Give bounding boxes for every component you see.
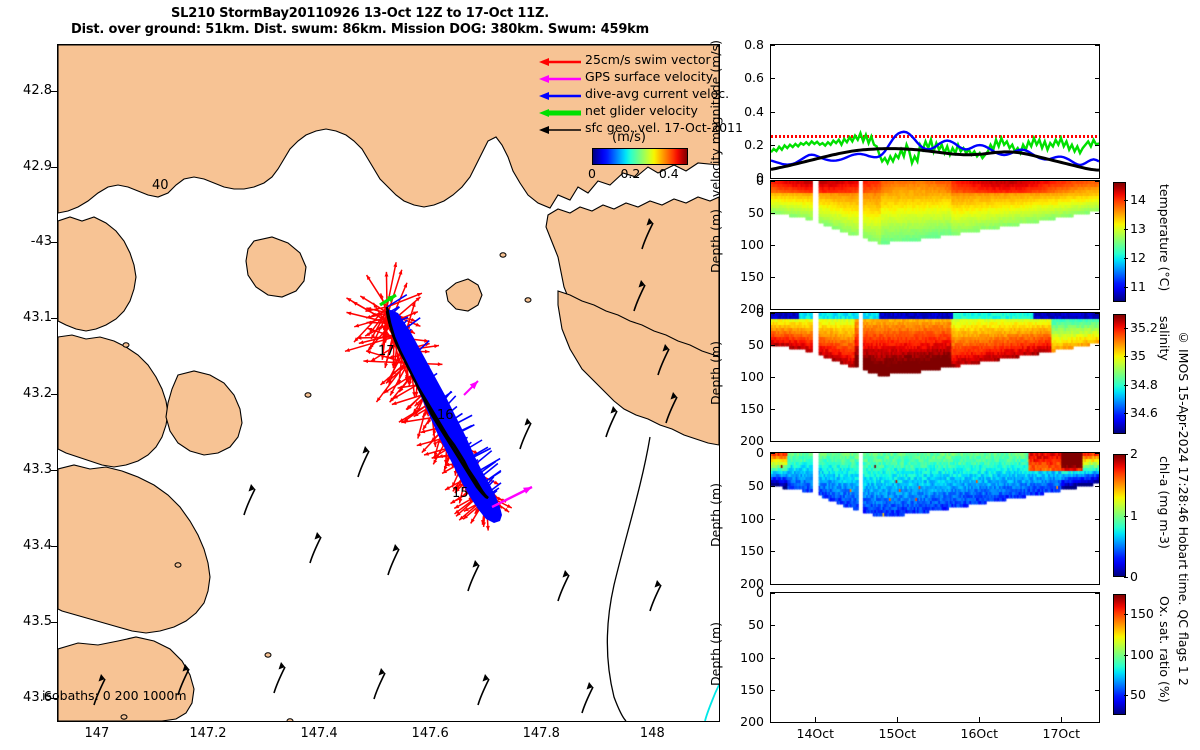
salinity-section-ytick	[1095, 409, 1099, 410]
velocity-magnitude-ytick-label-3: 0.6	[730, 70, 764, 85]
chlorophyll-section-ytick	[1095, 453, 1099, 454]
islet-7	[305, 393, 311, 397]
oxygen-section-canvas	[771, 593, 1099, 722]
chlorophyll-section-cbar-tick-0: 0	[1130, 569, 1138, 584]
temperature-section-ytick	[771, 309, 775, 310]
map-lat-tick-6: 43.4	[0, 538, 52, 553]
figure-root: SL210 StormBay20110926 13-Oct 12Z to 17-…	[0, 0, 1200, 750]
oxygen-section-cbar-tickmark	[1124, 614, 1128, 615]
map-graphic	[58, 45, 719, 721]
salinity-section-ytick	[1095, 377, 1099, 378]
map-lon-tick-0: 147	[67, 726, 127, 741]
map-colorbar-tick-2: 0.4	[654, 166, 684, 181]
temperature-section-cbar-tick-0: 11	[1130, 279, 1146, 294]
time-tickmark-3	[1061, 717, 1062, 722]
time-tickmark-2	[979, 717, 980, 722]
temperature-section-ytick	[1095, 309, 1099, 310]
legend-label-net-glider-velocity: net glider velocity	[585, 103, 698, 118]
temperature-section-cbar-tickmark	[1124, 258, 1128, 259]
salinity-section-ytick	[771, 441, 775, 442]
salinity-section-ytick	[1095, 345, 1099, 346]
chlorophyll-section-ytick-label-0: 0	[730, 445, 764, 460]
velocity-magnitude-ylabel: velocity magnitude (m/s)	[708, 40, 723, 197]
map-velocity-colorbar	[592, 148, 688, 165]
map-colorbar-tick-1: 0.2	[615, 166, 645, 181]
map-lat-tick-4: 43.2	[0, 386, 52, 401]
title-line-2: Dist. over ground: 51km. Dist. swum: 86k…	[0, 22, 720, 38]
waypoint-label-17: 17	[378, 344, 395, 359]
chlorophyll-section-ytick-label-3: 150	[730, 543, 764, 558]
legend-row-gps-surface-velocity: GPS surface velocity	[537, 69, 717, 86]
gps-surface-velocity-arrow-icon	[537, 73, 583, 85]
velocity-magnitude-ytick	[771, 112, 775, 113]
velocity-magnitude-ytick	[771, 145, 775, 146]
oxygen-section-ytick	[1095, 690, 1099, 691]
velocity-magnitude[interactable]	[770, 44, 1100, 179]
chlorophyll-section[interactable]	[770, 452, 1100, 585]
salinity-section-ylabel: Depth (m)	[708, 341, 723, 405]
velocity-magnitude-ytick	[771, 78, 775, 79]
salinity-section-ytick	[771, 409, 775, 410]
map-lat-tick-0: 42.8	[0, 83, 52, 98]
chlorophyll-section-cbar-tickmark	[1124, 577, 1128, 578]
salinity-section-ytick-label-0: 0	[730, 305, 764, 320]
oxygen-section-cbar-tick-2: 150	[1130, 606, 1154, 621]
chlorophyll-section-ylabel: Depth (m)	[708, 483, 723, 547]
salinity-section-cbar-tickmark	[1124, 413, 1128, 414]
salinity-section-cbar-tickmark	[1124, 356, 1128, 357]
temperature-section-ytick	[1095, 181, 1099, 182]
islet-4	[525, 298, 531, 302]
legend-row-dive-avg-current: dive-avg current veloc.	[537, 86, 717, 103]
salinity-section-ytick	[1095, 441, 1099, 442]
map-lat-tick-3: 43.1	[0, 310, 52, 325]
map-lon-tick-3: 147.6	[400, 726, 460, 741]
chlorophyll-section-cbar-tick-1: 1	[1130, 508, 1138, 523]
oxygen-section-ytick	[771, 658, 775, 659]
legend-label-swim-vector: 25cm/s swim vector	[585, 52, 711, 67]
oxygen-section-ytick-label-3: 150	[730, 682, 764, 697]
time-tickmark-0	[815, 717, 816, 722]
temperature-section-ytick	[1095, 213, 1099, 214]
temperature-section-ytick-label-2: 100	[730, 237, 764, 252]
time-tick-15Oct: 15Oct	[867, 726, 927, 741]
time-tick-17Oct: 17Oct	[1031, 726, 1091, 741]
salinity-section-ytick-label-3: 150	[730, 401, 764, 416]
time-tick-14Oct: 14Oct	[785, 726, 845, 741]
velocity-magnitude-ytick-right	[1095, 112, 1099, 113]
velocity-magnitude-ytick-label-2: 0.4	[730, 104, 764, 119]
temperature-section-cbar-tick-1: 12	[1130, 250, 1146, 265]
oxygen-section-cbar-tickmark	[1124, 695, 1128, 696]
copyright-text: © IMOS 15-Apr-2024 17:28:46 Hobart time.…	[1176, 330, 1191, 686]
title-line-1: SL210 StormBay20110926 13-Oct 12Z to 17-…	[0, 6, 720, 22]
temperature-section-ytick-label-0: 0	[730, 173, 764, 188]
oxygen-section-ytick	[771, 593, 775, 594]
temperature-section-ytick	[771, 245, 775, 246]
oxygen-section-ytick	[1095, 593, 1099, 594]
dive-avg-current-arrow-icon	[537, 90, 583, 102]
map-legend: 25cm/s swim vectorGPS surface velocitydi…	[537, 52, 717, 137]
temperature-section-cbar-tick-2: 13	[1130, 221, 1146, 236]
oxygen-section-ytick	[1095, 625, 1099, 626]
map-lon-tick-2: 147.4	[289, 726, 349, 741]
velocity-magnitude-ytick-right	[1095, 145, 1099, 146]
map-colorbar-tick-0: 0	[577, 166, 607, 181]
waypoint-label-15: 15	[452, 486, 469, 501]
salinity-section-colorbar	[1113, 314, 1126, 434]
chlorophyll-section-canvas	[771, 453, 1099, 584]
swim-vector-arrow-icon	[537, 56, 583, 68]
oxygen-section-ytick-label-4: 200	[730, 714, 764, 729]
salinity-section-canvas	[771, 313, 1099, 441]
islet-6	[123, 343, 129, 347]
chlorophyll-section-cbar-title: chl-a (mg m-3)	[1157, 456, 1172, 549]
temperature-section-ytick	[771, 213, 775, 214]
waypoint-label-16: 16	[437, 408, 454, 423]
salinity-section-ytick-label-1: 50	[730, 337, 764, 352]
salinity-section-cbar-tick-1: 34.8	[1130, 377, 1158, 392]
velocity-magnitude-ytick-label-1: 0.2	[730, 137, 764, 152]
velocity-magnitude-plot	[771, 45, 1099, 178]
salinity-section-ytick-label-2: 100	[730, 369, 764, 384]
map-lat-tick-7: 43.5	[0, 614, 52, 629]
islet-3	[287, 719, 293, 721]
temperature-section-ytick	[771, 277, 775, 278]
velocity-magnitude-ytick	[771, 45, 775, 46]
chlorophyll-section-ytick	[771, 584, 775, 585]
temperature-section-cbar-tick-3: 14	[1130, 192, 1146, 207]
chlorophyll-section-ytick	[1095, 551, 1099, 552]
velocity-magnitude-ytick-right	[1095, 78, 1099, 79]
chlorophyll-section-cbar-tickmark	[1124, 454, 1128, 455]
legend-row-swim-vector: 25cm/s swim vector	[537, 52, 717, 69]
temperature-section-cbar-tickmark	[1124, 200, 1128, 201]
oxygen-section-cbar-tickmark	[1124, 655, 1128, 656]
salinity-section-ytick	[771, 313, 775, 314]
chlorophyll-section-ytick	[771, 486, 775, 487]
islet-1	[121, 715, 127, 719]
chlorophyll-section-ytick	[1095, 584, 1099, 585]
chlorophyll-section-ytick	[1095, 486, 1099, 487]
oxygen-section-ytick-label-0: 0	[730, 585, 764, 600]
oxygen-section-cbar-title: Ox. sat. ratio (%)	[1157, 596, 1172, 703]
sfc-geo-velocity-arrow-icon	[537, 124, 583, 136]
map-depth-annotation: 40	[152, 178, 169, 193]
oxygen-section-ytick	[771, 625, 775, 626]
temperature-section-ytick	[771, 181, 775, 182]
salinity-section[interactable]	[770, 312, 1100, 442]
temperature-section-ytick	[1095, 277, 1099, 278]
chlorophyll-section-ytick-label-1: 50	[730, 478, 764, 493]
islet-8	[175, 563, 181, 567]
temperature-section-ytick-label-1: 50	[730, 205, 764, 220]
net-glider-velocity-arrow-icon	[537, 107, 583, 119]
oxygen-section-ytick-label-2: 100	[730, 650, 764, 665]
velocity-magnitude-ytick-label-4: 0.8	[730, 37, 764, 52]
temperature-section-ytick	[1095, 245, 1099, 246]
time-tickmark-1	[897, 717, 898, 722]
velocity-magnitude-ytick-right	[1095, 45, 1099, 46]
islet-9	[265, 653, 271, 657]
velocity-magnitude-ytick	[771, 178, 775, 179]
chlorophyll-section-ytick	[771, 551, 775, 552]
glider-track-map[interactable]	[57, 44, 720, 722]
temperature-section-cbar-tickmark	[1124, 287, 1128, 288]
chlorophyll-section-ytick	[1095, 519, 1099, 520]
salinity-section-ytick	[1095, 313, 1099, 314]
map-lon-tick-1: 147.2	[178, 726, 238, 741]
chlorophyll-section-ytick	[771, 453, 775, 454]
map-lat-tick-1: 42.9	[0, 159, 52, 174]
islet-5	[500, 253, 506, 257]
legend-row-net-glider-velocity: net glider velocity	[537, 103, 717, 120]
map-colorbar-units: (m/s)	[612, 130, 646, 145]
salinity-section-ytick	[771, 377, 775, 378]
temperature-section-ylabel: Depth (m)	[708, 209, 723, 273]
velocity-magnitude-ytick-right	[1095, 178, 1099, 179]
map-lon-tick-4: 147.8	[511, 726, 571, 741]
oxygen-section-cbar-tick-1: 100	[1130, 647, 1154, 662]
oxygen-section[interactable]	[770, 592, 1100, 723]
oxygen-section-ytick	[771, 722, 775, 723]
temperature-section-canvas	[771, 181, 1099, 309]
map-lon-tick-5: 148	[622, 726, 682, 741]
legend-label-gps-surface-velocity: GPS surface velocity	[585, 69, 713, 84]
oxygen-section-cbar-tick-0: 50	[1130, 687, 1146, 702]
temperature-section-cbar-tickmark	[1124, 229, 1128, 230]
salinity-section-cbar-title: salinity	[1157, 316, 1172, 361]
oxygen-section-ytick	[1095, 658, 1099, 659]
map-lat-tick-2: -43	[0, 234, 52, 249]
salinity-section-cbar-tick-2: 35	[1130, 348, 1146, 363]
isobaths-caption: isobaths: 0 200 1000m	[42, 688, 187, 703]
oxygen-section-ytick	[1095, 722, 1099, 723]
temperature-section[interactable]	[770, 180, 1100, 310]
salinity-section-cbar-tickmark	[1124, 328, 1128, 329]
chlorophyll-section-ytick-label-2: 100	[730, 511, 764, 526]
figure-title: SL210 StormBay20110926 13-Oct 12Z to 17-…	[0, 6, 720, 38]
oxygen-section-ytick-label-1: 50	[730, 617, 764, 632]
temperature-section-cbar-title: temperature (°C)	[1157, 184, 1172, 291]
chlorophyll-section-cbar-tickmark	[1124, 516, 1128, 517]
salinity-section-cbar-tick-3: 35.2	[1130, 320, 1158, 335]
salinity-section-cbar-tickmark	[1124, 385, 1128, 386]
chlorophyll-section-ytick	[771, 519, 775, 520]
chlorophyll-section-cbar-tick-2: 2	[1130, 446, 1138, 461]
oxygen-section-ytick	[771, 690, 775, 691]
oxygen-section-ylabel: Depth (m)	[708, 622, 723, 686]
velocity-series-sfc-geo-velocity	[771, 149, 1099, 171]
salinity-section-cbar-tick-0: 34.6	[1130, 405, 1158, 420]
salinity-section-ytick	[771, 345, 775, 346]
time-tick-16Oct: 16Oct	[949, 726, 1009, 741]
temperature-section-ytick-label-3: 150	[730, 269, 764, 284]
map-lat-tick-5: 43.3	[0, 462, 52, 477]
